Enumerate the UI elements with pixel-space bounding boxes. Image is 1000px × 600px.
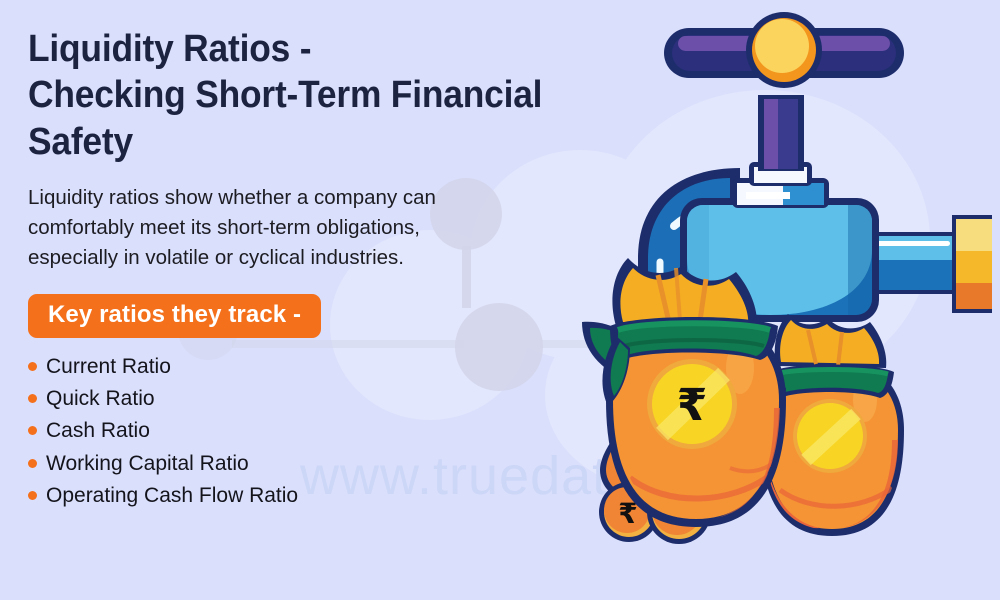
intro-paragraph: Liquidity ratios show whether a company … [28,183,498,272]
list-item: Working Capital Ratio [28,452,668,475]
list-item: Cash Ratio [28,419,668,442]
svg-text:₹: ₹ [677,380,708,431]
list-item-label: Quick Ratio [46,387,155,410]
list-item: Quick Ratio [28,387,668,410]
infographic-canvas: www.truedata.in Liquidity Ratios - Check… [0,0,1000,600]
list-item: Current Ratio [28,355,668,378]
content-block: Liquidity Ratios - Checking Short-Term F… [28,26,668,516]
bullet-icon [28,394,37,403]
page-title: Liquidity Ratios - Checking Short-Term F… [28,26,623,165]
bullet-icon [28,426,37,435]
bullet-icon [28,459,37,468]
list-item-label: Cash Ratio [46,419,150,442]
ratio-list: Current Ratio Quick Ratio Cash Ratio Wor… [28,355,668,506]
bullet-icon [28,491,37,500]
list-item-label: Operating Cash Flow Ratio [46,484,298,507]
list-item-label: Working Capital Ratio [46,452,249,475]
list-item: Operating Cash Flow Ratio [28,484,668,507]
list-item-label: Current Ratio [46,355,171,378]
bullet-icon [28,362,37,371]
badge-container: Key ratios they track - [28,294,668,338]
key-ratios-badge: Key ratios they track - [28,294,321,338]
